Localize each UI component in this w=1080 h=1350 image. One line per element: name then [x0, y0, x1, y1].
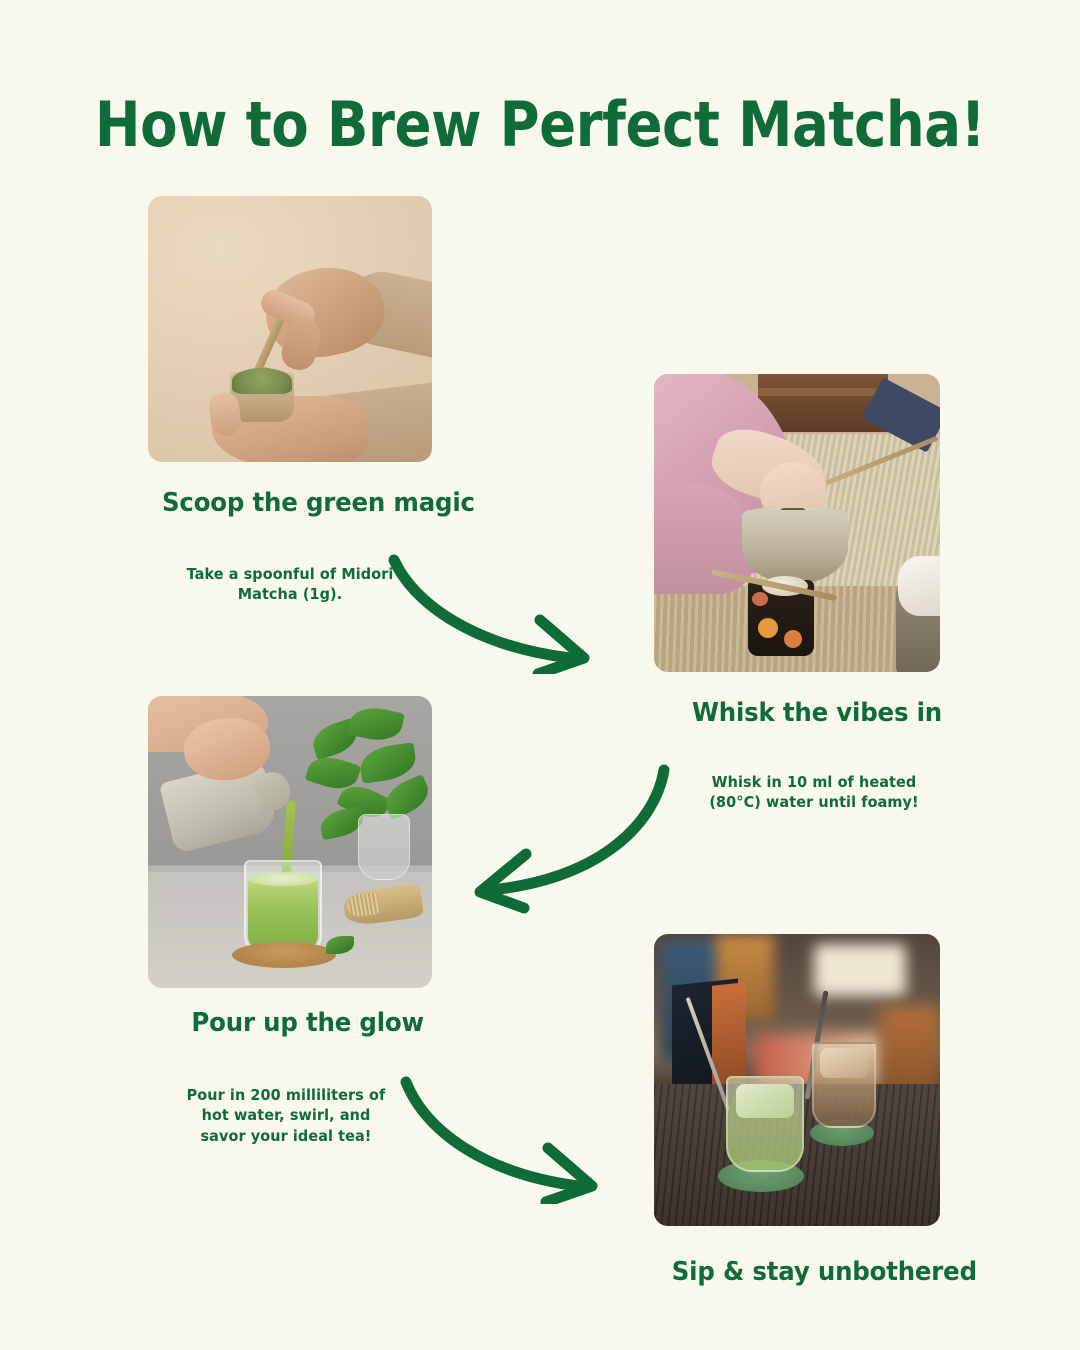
- matcha-powder: [232, 368, 292, 394]
- white-cloth: [898, 556, 940, 616]
- step-2-description: Whisk in 10 ml of heated (80°C) water un…: [705, 772, 924, 813]
- step-3-photo: [148, 696, 432, 988]
- wooden-coaster: [232, 942, 336, 968]
- ice-cubes: [820, 1048, 868, 1078]
- matcha-infographic: How to Brew Perfect Matcha!: [0, 0, 1080, 1350]
- page-title: How to Brew Perfect Matcha!: [65, 88, 1015, 161]
- ice-cubes: [736, 1084, 794, 1118]
- wooden-panel-highlight: [758, 388, 888, 396]
- arrow-step1-to-step2: [388, 552, 638, 674]
- matcha-foam: [248, 872, 318, 886]
- step-3-caption: Pour up the glow: [191, 1008, 423, 1038]
- step-4-photo: [654, 934, 940, 1226]
- step-2-caption: Whisk the vibes in: [692, 698, 942, 728]
- bamboo-whisk-tines: [347, 892, 380, 918]
- ceiling-light: [814, 944, 906, 996]
- arrow-step3-to-step4: [398, 1074, 644, 1204]
- caddy-pattern-dot: [752, 592, 768, 606]
- step-1-description: Take a spoonful of Midori Matcha (1g).: [184, 564, 395, 605]
- step-4-caption: Sip & stay unbothered: [672, 1257, 977, 1287]
- matcha-liquid: [248, 878, 318, 950]
- step-1-caption: Scoop the green magic: [162, 488, 475, 518]
- arrow-step2-to-step3: [468, 762, 706, 914]
- chawan-bowl: [742, 510, 848, 584]
- caddy-pattern-dot: [784, 630, 802, 648]
- glass-vase: [358, 814, 410, 880]
- caddy-pattern-dot: [758, 618, 778, 638]
- step-3-description: Pour in 200 milliliters of hot water, sw…: [177, 1085, 396, 1146]
- step-2-photo: [654, 374, 940, 672]
- step-1-photo: [148, 196, 432, 462]
